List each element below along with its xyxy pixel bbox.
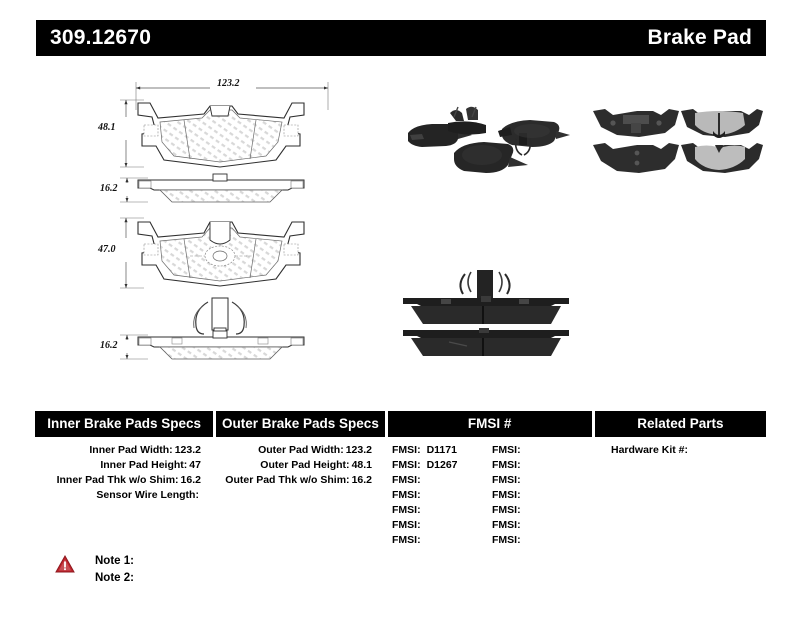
fmsi-row: FMSI: <box>392 533 492 548</box>
spec-row: Outer Pad Height:48.1 <box>216 458 384 473</box>
fmsi-row: FMSI:D1171 <box>392 443 492 458</box>
spec-value: 123.2 <box>175 444 201 456</box>
table-header-related-parts: Related Parts <box>595 411 766 437</box>
table-header-row: Inner Brake Pads Specs Outer Brake Pads … <box>35 411 766 437</box>
note-1: Note 1: <box>95 553 134 570</box>
table-header-fmsi: FMSI # <box>388 411 592 437</box>
fmsi-column-left: FMSI:D1171 FMSI:D1267 FMSI: FMSI: FMSI: … <box>392 443 492 548</box>
outer-specs-cell: Outer Pad Width:123.2 Outer Pad Height:4… <box>216 443 384 548</box>
technical-drawings: 123.2 48.1 16.2 47.0 16.2 <box>60 70 380 375</box>
note-2: Note 2: <box>95 570 134 587</box>
brake-pads-edge-view-photo <box>393 268 583 368</box>
spec-label: Outer Pad Width: <box>258 444 344 456</box>
fmsi-cell: FMSI:D1171 FMSI:D1267 FMSI: FMSI: FMSI: … <box>387 443 592 548</box>
table-header-inner-specs: Inner Brake Pads Specs <box>35 411 213 437</box>
title-bar: 309.12670 Brake Pad <box>36 20 766 56</box>
spec-value: 16.2 <box>181 474 201 486</box>
spec-row: Sensor Wire Length: <box>35 488 213 503</box>
fmsi-label: FMSI: <box>492 534 521 546</box>
fmsi-row: FMSI: <box>492 533 592 548</box>
fmsi-label: FMSI: <box>492 489 521 501</box>
part-number: 309.12670 <box>50 26 151 50</box>
specifications-table: Inner Brake Pads Specs Outer Brake Pads … <box>35 411 766 548</box>
inner-specs-cell: Inner Pad Width:123.2 Inner Pad Height:4… <box>35 443 213 548</box>
fmsi-label: FMSI: <box>392 459 421 471</box>
related-parts-cell: Hardware Kit #: <box>595 443 766 548</box>
fmsi-row: FMSI:D1267 <box>392 458 492 473</box>
fmsi-value: D1267 <box>427 459 458 471</box>
brake-pads-assortment-photo <box>398 95 578 180</box>
spec-value: 48.1 <box>352 459 372 471</box>
table-body-row: Inner Pad Width:123.2 Inner Pad Height:4… <box>35 443 766 548</box>
fmsi-row: FMSI: <box>392 473 492 488</box>
fmsi-label: FMSI: <box>392 489 421 501</box>
spec-value: 16.2 <box>352 474 372 486</box>
pad-outline-drawings <box>60 70 380 375</box>
spec-label: Inner Pad Width: <box>89 444 172 456</box>
fmsi-row: FMSI: <box>492 473 592 488</box>
warning-triangle-icon <box>55 555 75 573</box>
fmsi-label: FMSI: <box>492 474 521 486</box>
product-type: Brake Pad <box>647 26 752 50</box>
fmsi-label: FMSI: <box>392 504 421 516</box>
fmsi-row: FMSI: <box>392 503 492 518</box>
fmsi-row: FMSI: <box>492 458 592 473</box>
fmsi-label: FMSI: <box>392 534 421 546</box>
related-parts-row: Hardware Kit #: <box>595 443 766 458</box>
spec-value: 47 <box>189 459 201 471</box>
fmsi-label: FMSI: <box>392 519 421 531</box>
spec-row: Inner Pad Thk w/o Shim:16.2 <box>35 473 213 488</box>
fmsi-label: FMSI: <box>492 519 521 531</box>
spec-label: Inner Pad Height: <box>100 459 187 471</box>
spec-label: Sensor Wire Length: <box>96 489 199 501</box>
fmsi-row: FMSI: <box>492 503 592 518</box>
fmsi-label: FMSI: <box>392 444 421 456</box>
notes-section: Note 1: Note 2: <box>55 553 134 587</box>
fmsi-row: FMSI: <box>492 443 592 458</box>
spec-row: Outer Pad Width:123.2 <box>216 443 384 458</box>
spec-value: 123.2 <box>346 444 372 456</box>
fmsi-label: FMSI: <box>492 459 521 471</box>
spec-row: Inner Pad Height:47 <box>35 458 213 473</box>
spec-label: Outer Pad Height: <box>260 459 349 471</box>
spec-row: Inner Pad Width:123.2 <box>35 443 213 458</box>
fmsi-row: FMSI: <box>392 488 492 503</box>
fmsi-row: FMSI: <box>492 518 592 533</box>
fmsi-row: FMSI: <box>492 488 592 503</box>
table-header-outer-specs: Outer Brake Pads Specs <box>216 411 384 437</box>
fmsi-label: FMSI: <box>492 444 521 456</box>
spec-row: Outer Pad Thk w/o Shim:16.2 <box>216 473 384 488</box>
fmsi-label: FMSI: <box>392 474 421 486</box>
fmsi-label: FMSI: <box>492 504 521 516</box>
fmsi-column-right: FMSI: FMSI: FMSI: FMSI: FMSI: FMSI: FMSI… <box>492 443 592 548</box>
fmsi-row: FMSI: <box>392 518 492 533</box>
spec-label: Outer Pad Thk w/o Shim: <box>225 474 349 486</box>
spec-label: Inner Pad Thk w/o Shim: <box>57 474 179 486</box>
fmsi-value: D1171 <box>427 444 457 456</box>
brake-pads-front-back-photo <box>583 95 763 180</box>
related-parts-label: Hardware Kit #: <box>611 444 688 456</box>
